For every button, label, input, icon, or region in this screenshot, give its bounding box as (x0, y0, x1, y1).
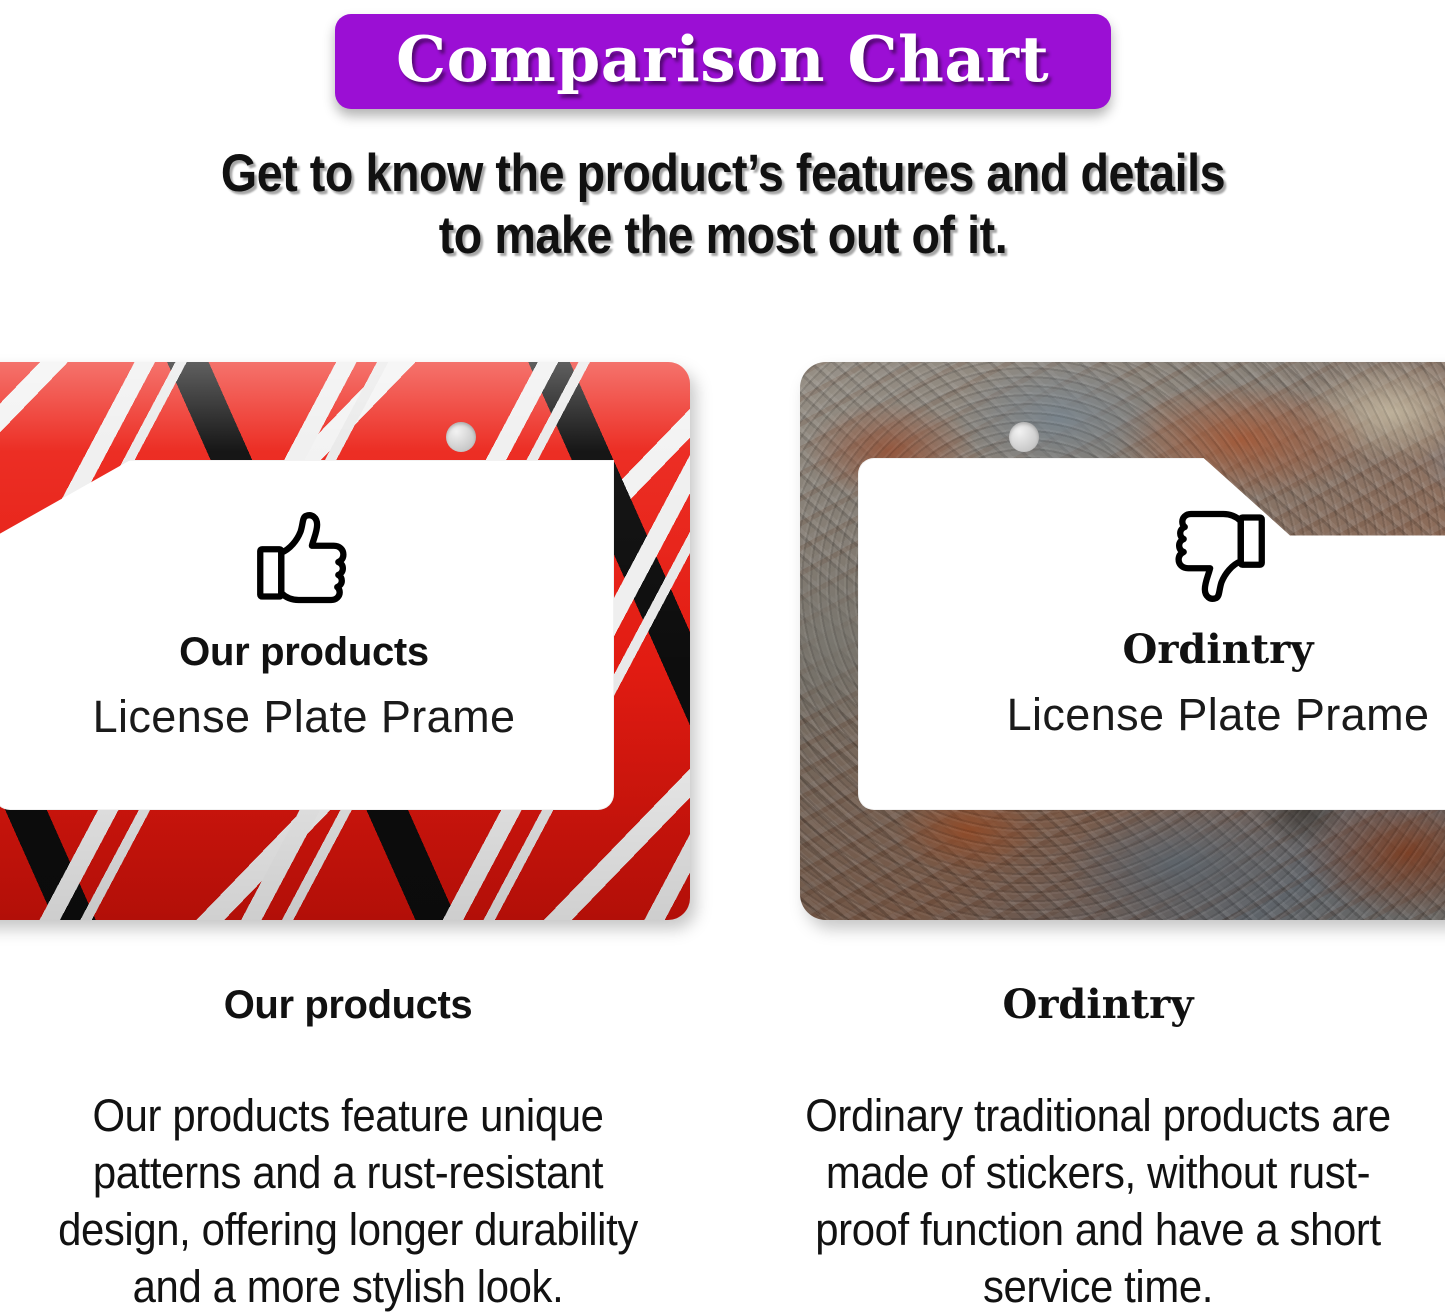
title-banner-wrapper: Comparison Chart (0, 0, 1445, 109)
description-heading-ours: Our products (28, 985, 668, 1025)
thumbs-down-icon (1162, 500, 1274, 612)
description-row: Our products Our products feature unique… (0, 985, 1445, 1315)
thumbs-up-icon (248, 502, 360, 614)
screw-hole-ours (446, 422, 476, 452)
screw-hole-ordinary (1009, 422, 1039, 452)
product-frame-ordinary: Ordintry License Plate Prame (800, 362, 1445, 920)
frame-window-content-ordinary: Ordintry License Plate Prame (858, 500, 1445, 737)
description-body-ours: Our products feature unique patterns and… (50, 1087, 645, 1316)
page-header: Comparison Chart Get to know the product… (0, 0, 1445, 267)
title-banner: Comparison Chart (335, 14, 1111, 109)
product-name-ours: Our products (0, 632, 614, 672)
product-comparison-row: Our products License Plate Prame Ordintr… (0, 352, 1445, 927)
description-column-ordinary: Ordintry Ordinary traditional products a… (778, 985, 1418, 1316)
frame-window-ours: Our products License Plate Prame (0, 460, 614, 810)
description-heading-ordinary: Ordintry (778, 985, 1418, 1025)
page-title: Comparison Chart (373, 28, 1073, 91)
product-subtitle-ours: License Plate Prame (0, 694, 614, 739)
page-subtitle: Get to know the product’s features and d… (203, 143, 1241, 267)
product-name-ordinary: Ordintry (858, 630, 1445, 670)
product-subtitle-ordinary: License Plate Prame (858, 692, 1445, 737)
description-column-ours: Our products Our products feature unique… (28, 985, 668, 1316)
description-body-ordinary: Ordinary traditional products are made o… (800, 1087, 1395, 1316)
product-frame-ours: Our products License Plate Prame (0, 362, 690, 920)
frame-window-content-ours: Our products License Plate Prame (0, 502, 614, 739)
